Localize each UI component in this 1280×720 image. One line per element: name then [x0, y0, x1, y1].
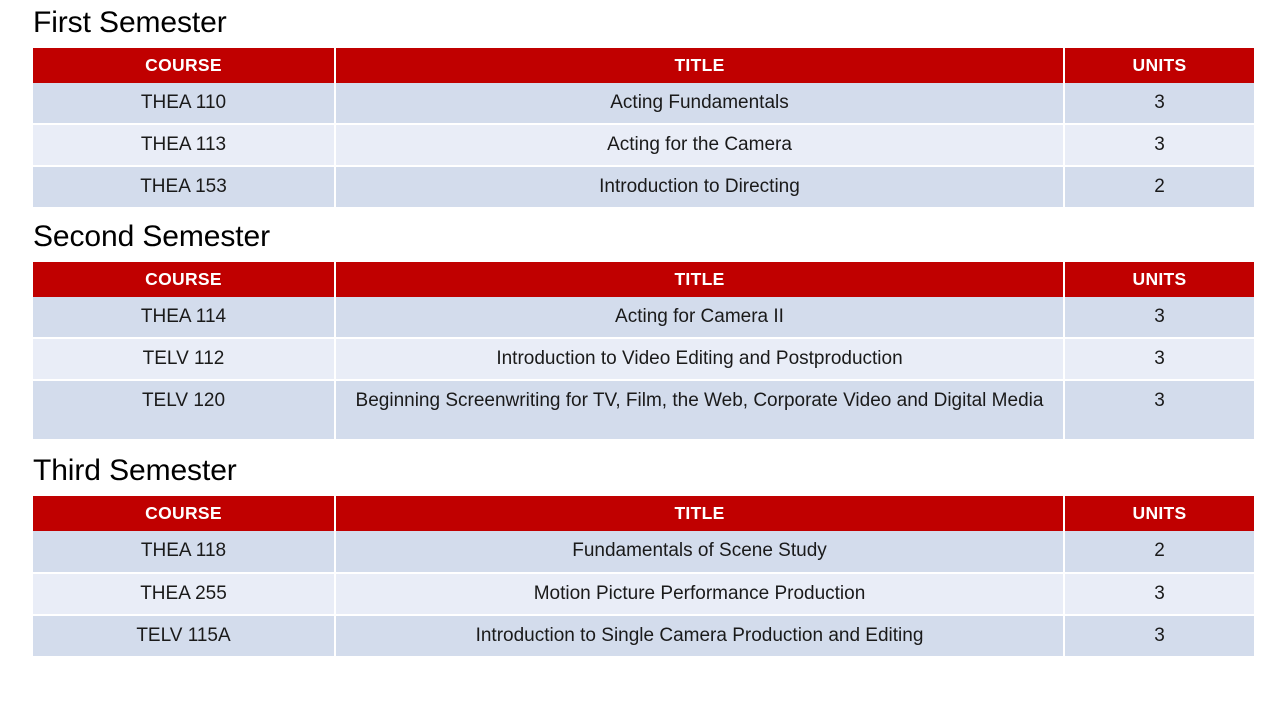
table-row: THEA 113 Acting for the Camera 3: [33, 125, 1254, 167]
semester-section-first: First Semester COURSE TITLE UNITS THEA 1…: [33, 0, 1254, 207]
cell-course: THEA 118: [33, 531, 336, 573]
header-row: COURSE TITLE UNITS: [33, 48, 1254, 83]
cell-course: THEA 153: [33, 167, 336, 207]
cell-course: TELV 112: [33, 339, 336, 381]
column-header-course: COURSE: [33, 496, 336, 531]
semester-heading-third: Third Semester: [33, 439, 1254, 496]
table-row: THEA 153 Introduction to Directing 2: [33, 167, 1254, 207]
cell-units: 3: [1065, 339, 1254, 381]
cell-title: Acting for Camera II: [336, 297, 1065, 339]
table-header-first: COURSE TITLE UNITS: [33, 48, 1254, 83]
cell-title: Fundamentals of Scene Study: [336, 531, 1065, 573]
table-header-third: COURSE TITLE UNITS: [33, 496, 1254, 531]
table-row: TELV 115A Introduction to Single Camera …: [33, 616, 1254, 656]
cell-units: 3: [1065, 616, 1254, 656]
cell-title: Introduction to Single Camera Production…: [336, 616, 1065, 656]
column-header-units: UNITS: [1065, 48, 1254, 83]
cell-title: Introduction to Directing: [336, 167, 1065, 207]
table-row: THEA 114 Acting for Camera II 3: [33, 297, 1254, 339]
table-body-first: THEA 110 Acting Fundamentals 3 THEA 113 …: [33, 83, 1254, 207]
cell-units: 3: [1065, 574, 1254, 616]
cell-units: 2: [1065, 531, 1254, 573]
course-table-third: COURSE TITLE UNITS THEA 118 Fundamentals…: [33, 496, 1254, 655]
cell-course: THEA 255: [33, 574, 336, 616]
cell-course: TELV 120: [33, 381, 336, 439]
cell-course: THEA 110: [33, 83, 336, 125]
cell-units: 3: [1065, 381, 1254, 439]
cell-units: 3: [1065, 297, 1254, 339]
table-row: TELV 120 Beginning Screenwriting for TV,…: [33, 381, 1254, 439]
cell-course: THEA 113: [33, 125, 336, 167]
table-row: THEA 255 Motion Picture Performance Prod…: [33, 574, 1254, 616]
cell-course: THEA 114: [33, 297, 336, 339]
header-row: COURSE TITLE UNITS: [33, 496, 1254, 531]
cell-title: Acting for the Camera: [336, 125, 1065, 167]
table-row: THEA 110 Acting Fundamentals 3: [33, 83, 1254, 125]
column-header-title: TITLE: [336, 496, 1065, 531]
table-header-second: COURSE TITLE UNITS: [33, 262, 1254, 297]
semester-heading-first: First Semester: [33, 0, 1254, 48]
cell-units: 3: [1065, 83, 1254, 125]
cell-title: Beginning Screenwriting for TV, Film, th…: [336, 381, 1065, 439]
semester-section-second: Second Semester COURSE TITLE UNITS THEA …: [33, 207, 1254, 439]
cell-title: Introduction to Video Editing and Postpr…: [336, 339, 1065, 381]
column-header-units: UNITS: [1065, 496, 1254, 531]
column-header-course: COURSE: [33, 48, 336, 83]
column-header-course: COURSE: [33, 262, 336, 297]
cell-units: 2: [1065, 167, 1254, 207]
table-row: TELV 112 Introduction to Video Editing a…: [33, 339, 1254, 381]
cell-title: Acting Fundamentals: [336, 83, 1065, 125]
table-row: THEA 118 Fundamentals of Scene Study 2: [33, 531, 1254, 573]
column-header-units: UNITS: [1065, 262, 1254, 297]
cell-course: TELV 115A: [33, 616, 336, 656]
table-body-third: THEA 118 Fundamentals of Scene Study 2 T…: [33, 531, 1254, 655]
course-plan-page: First Semester COURSE TITLE UNITS THEA 1…: [0, 0, 1280, 720]
column-header-title: TITLE: [336, 262, 1065, 297]
table-body-second: THEA 114 Acting for Camera II 3 TELV 112…: [33, 297, 1254, 439]
course-table-first: COURSE TITLE UNITS THEA 110 Acting Funda…: [33, 48, 1254, 207]
semester-heading-second: Second Semester: [33, 207, 1254, 262]
header-row: COURSE TITLE UNITS: [33, 262, 1254, 297]
course-table-second: COURSE TITLE UNITS THEA 114 Acting for C…: [33, 262, 1254, 439]
cell-units: 3: [1065, 125, 1254, 167]
semester-section-third: Third Semester COURSE TITLE UNITS THEA 1…: [33, 439, 1254, 655]
column-header-title: TITLE: [336, 48, 1065, 83]
cell-title: Motion Picture Performance Production: [336, 574, 1065, 616]
